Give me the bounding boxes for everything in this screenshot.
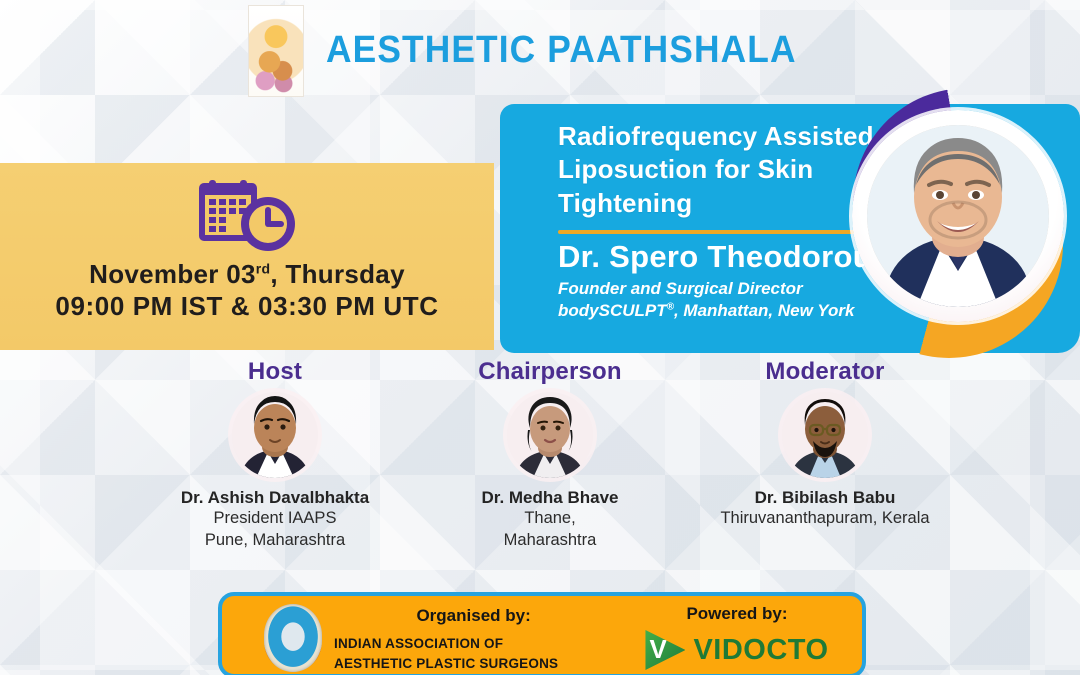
event-date-text: November 03 xyxy=(89,259,256,289)
organiser-name-line1: INDIAN ASSOCIATION OF xyxy=(334,634,558,654)
person-name: Dr. Ashish Davalbhakta xyxy=(181,487,369,508)
person-meta-2: Maharashtra xyxy=(504,530,597,551)
organised-by-label: Organised by: xyxy=(334,606,558,626)
speaker-portrait xyxy=(835,88,1080,360)
chairperson-avatar xyxy=(507,392,593,478)
person-role: Chairperson xyxy=(478,358,622,386)
schedule-panel: November 03rd, Thursday 09:00 PM IST & 0… xyxy=(0,163,494,350)
powered-by-label: Powered by: xyxy=(686,604,787,624)
person-moderator: Moderator Dr. Bibil xyxy=(700,358,950,583)
organiser-block: Organised by: INDIAN ASSOCIATION OF AEST… xyxy=(222,596,612,673)
person-host: Host Dr. Ashish Davalbhakta Preside xyxy=(150,358,400,583)
person-role: Moderator xyxy=(765,358,884,386)
page-title: AESTHETIC PAATHSHALA xyxy=(326,29,797,72)
speaker-photo xyxy=(867,125,1049,307)
organiser-text: Organised by: INDIAN ASSOCIATION OF AEST… xyxy=(334,604,558,673)
vidocto-play-icon xyxy=(645,630,685,670)
organiser-name-line2: AESTHETIC PLASTIC SURGEONS xyxy=(334,654,558,674)
event-date: November 03rd, Thursday xyxy=(89,259,405,291)
event-time: 09:00 PM IST & 03:30 PM UTC xyxy=(55,291,438,323)
footer-bar: Organised by: INDIAN ASSOCIATION OF AEST… xyxy=(218,592,866,675)
iaaps-emblem-icon xyxy=(264,604,322,672)
person-meta-1: President IAAPS xyxy=(214,508,337,529)
vidocto-wordmark: VIDOCTO xyxy=(693,634,828,667)
person-meta-1: Thane, xyxy=(524,508,575,529)
person-meta-2: Pune, Maharashtra xyxy=(205,530,345,551)
speaker-org-location: , Manhattan, New York xyxy=(674,301,854,320)
ganesha-illustration-icon xyxy=(248,5,304,97)
person-name: Dr. Medha Bhave xyxy=(482,487,619,508)
speaker-org-name: bodySCULPT xyxy=(558,301,667,320)
person-meta-1: Thiruvananthapuram, Kerala xyxy=(720,508,929,529)
event-date-ordinal: rd xyxy=(256,260,271,276)
person-name: Dr. Bibilash Babu xyxy=(755,487,896,508)
event-day-text: , Thursday xyxy=(270,259,404,289)
poster-header: AESTHETIC PAATHSHALA xyxy=(0,0,1080,100)
person-role: Host xyxy=(248,358,302,386)
calendar-clock-icon xyxy=(191,175,303,253)
people-row: Host Dr. Ashish Davalbhakta Preside xyxy=(150,358,950,583)
person-chairperson: Chairperson Dr. Med xyxy=(425,358,675,583)
powered-by-block: Powered by: VIDOCTO xyxy=(612,596,862,670)
registered-mark: ® xyxy=(667,301,674,312)
vidocto-logo: VIDOCTO xyxy=(645,630,828,670)
webinar-poster: AESTHETIC PAATHSHALA xyxy=(0,0,1080,675)
moderator-avatar xyxy=(782,392,868,478)
host-avatar xyxy=(232,392,318,478)
